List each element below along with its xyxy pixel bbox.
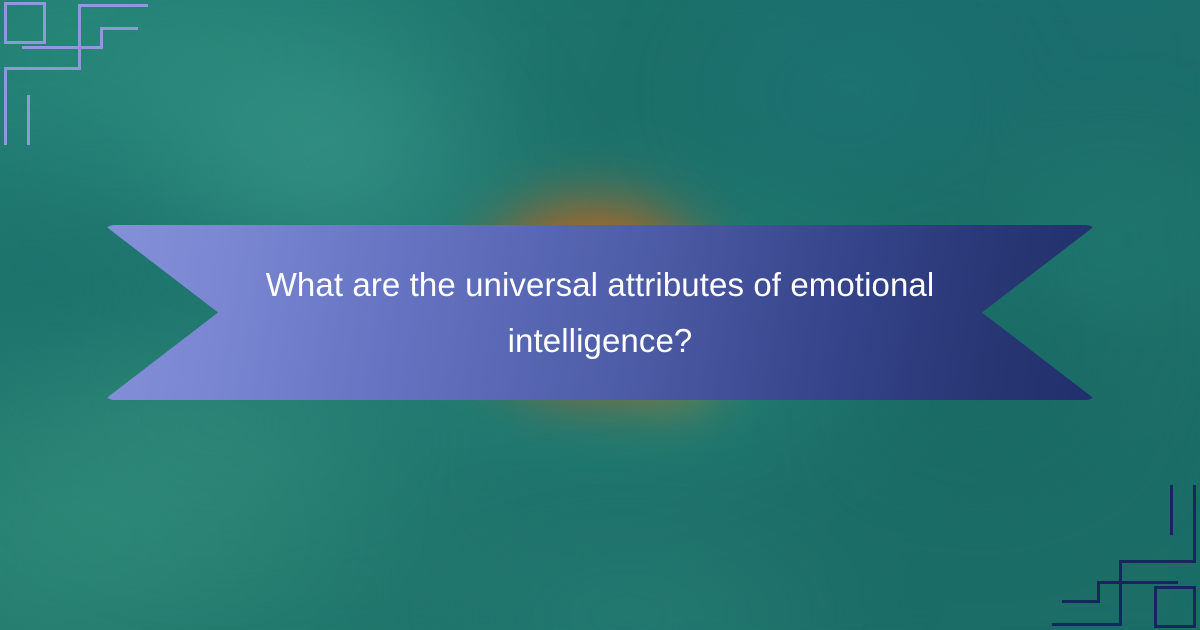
- poster-canvas: What are the universal attributes of emo…: [0, 0, 1200, 630]
- title-ribbon-banner: What are the universal attributes of emo…: [104, 225, 1096, 400]
- page-title: What are the universal attributes of emo…: [200, 257, 1000, 369]
